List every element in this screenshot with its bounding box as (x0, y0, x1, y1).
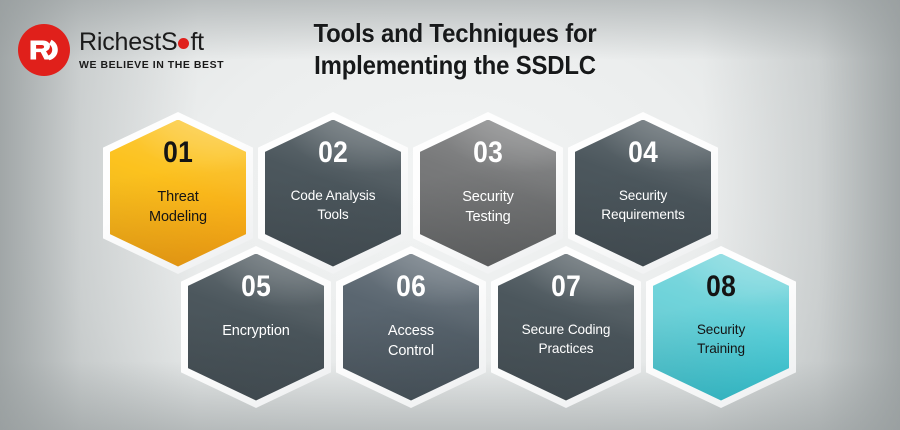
infographic-canvas: RichestS ft WE BELIEVE IN THE BEST Tools… (0, 0, 900, 430)
brand-name-part2: ft (190, 30, 204, 55)
hexagon-step-07[interactable]: 07Secure CodingPractices (491, 246, 641, 408)
brand-name: RichestS ft (79, 30, 224, 55)
hexagon-step-06[interactable]: 06AccessControl (336, 246, 486, 408)
brand-tagline: WE BELIEVE IN THE BEST (79, 60, 224, 71)
header: RichestS ft WE BELIEVE IN THE BEST Tools… (0, 0, 900, 100)
brand-name-part1: RichestS (79, 30, 177, 55)
page-title-line-1: Tools and Techniques for (303, 18, 607, 50)
richestsoft-rs-monogram-icon (18, 24, 70, 76)
page-title: Tools and Techniques for Implementing th… (303, 18, 607, 81)
hexagon-step-08[interactable]: 08SecurityTraining (646, 246, 796, 408)
brand-logo[interactable]: RichestS ft WE BELIEVE IN THE BEST (18, 24, 224, 76)
page-title-line-2: Implementing the SSDLC (303, 50, 607, 82)
brand-text: RichestS ft WE BELIEVE IN THE BEST (79, 30, 224, 71)
red-dot-icon (178, 38, 189, 49)
hexagon-step-05[interactable]: 05Encryption (181, 246, 331, 408)
